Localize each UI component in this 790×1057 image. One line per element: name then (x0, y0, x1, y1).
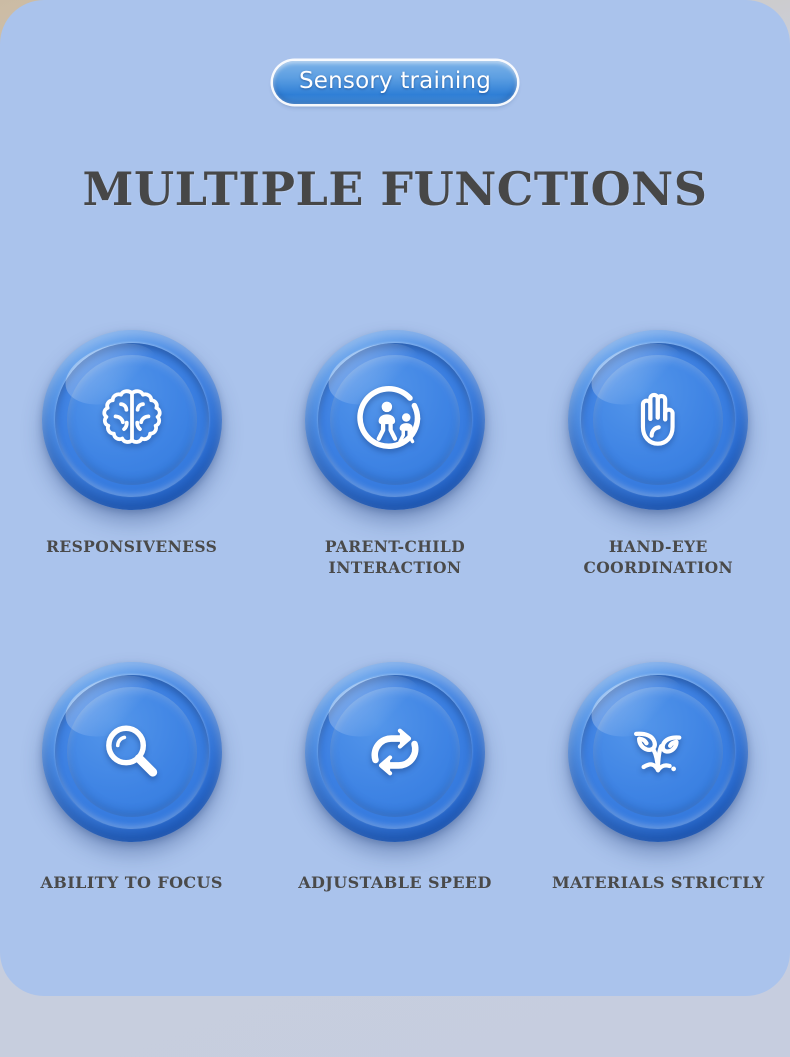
feature-knob[interactable] (568, 330, 748, 510)
feature-knob[interactable] (568, 662, 748, 842)
hand-icon (568, 330, 748, 510)
feature-label: RESPONSIVENESS (46, 536, 217, 557)
parent-child-icon (305, 330, 485, 510)
magnifier-icon (42, 662, 222, 842)
feature-item-focus[interactable]: ABILITY TO FOCUS (0, 662, 263, 893)
feature-label: HAND-EYE COORDINATION (533, 536, 783, 578)
feature-label: ABILITY TO FOCUS (40, 872, 222, 893)
feature-label: PARENT-CHILD INTERACTION (270, 536, 520, 578)
feature-item-parent-child[interactable]: PARENT-CHILD INTERACTION (263, 330, 526, 578)
feature-item-materials[interactable]: MATERIALS STRICTLY (527, 662, 790, 893)
feature-row-1: RESPONSIVENESS P (0, 330, 790, 578)
brain-icon (42, 330, 222, 510)
feature-label: MATERIALS STRICTLY (552, 872, 765, 893)
sensory-training-badge[interactable]: Sensory training (273, 61, 517, 104)
feature-item-hand-eye[interactable]: HAND-EYE COORDINATION (527, 330, 790, 578)
sprout-icon (568, 662, 748, 842)
feature-card: Sensory training MULTIPLE FUNCTIONS (0, 0, 790, 996)
feature-knob[interactable] (42, 662, 222, 842)
feature-label: ADJUSTABLE SPEED (298, 872, 492, 893)
feature-row-2: ABILITY TO FOCUS ADJUSTABLE SPEED (0, 662, 790, 893)
page-title: MULTIPLE FUNCTIONS (0, 162, 790, 216)
feature-knob[interactable] (42, 330, 222, 510)
badge-container: Sensory training (0, 61, 790, 104)
feature-knob[interactable] (305, 662, 485, 842)
feature-item-responsiveness[interactable]: RESPONSIVENESS (0, 330, 263, 578)
feature-knob[interactable] (305, 330, 485, 510)
feature-item-adjustable-speed[interactable]: ADJUSTABLE SPEED (263, 662, 526, 893)
refresh-loop-icon (305, 662, 485, 842)
